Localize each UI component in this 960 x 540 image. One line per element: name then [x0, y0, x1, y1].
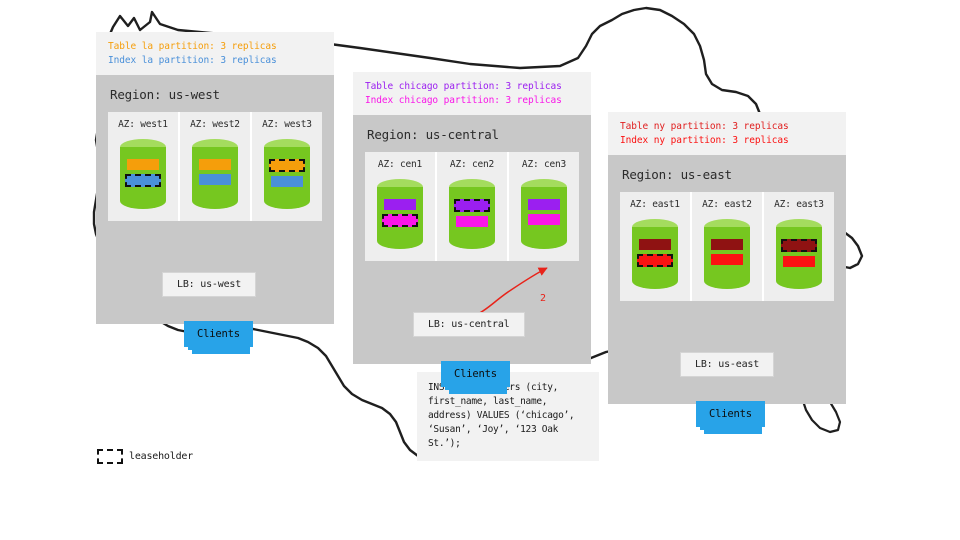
- leaseholder-swatch-icon: [97, 449, 123, 464]
- clients-button[interactable]: Clients: [441, 361, 510, 387]
- replica-bar-table: [384, 199, 416, 210]
- replica-bar-index: [456, 216, 488, 227]
- table-partition-line: Table ny partition: 3 replicas: [620, 121, 789, 132]
- clients-stack-us-west[interactable]: Clients: [184, 321, 253, 347]
- cylinder-bottom: [192, 193, 238, 209]
- az-cell-west3[interactable]: AZ: west3: [252, 112, 322, 221]
- replica-bar-table-leaseholder: [781, 239, 817, 252]
- replica-bars: [632, 239, 678, 271]
- replica-bar-table: [199, 159, 231, 170]
- az-row: AZ: west1 AZ: west2: [108, 112, 322, 221]
- az-label: AZ: cen1: [378, 159, 422, 170]
- partition-header-us-west: Table la partition: 3 replicas Index la …: [96, 32, 334, 75]
- region-title: Region: us-central: [353, 115, 591, 152]
- az-label: AZ: west2: [190, 119, 240, 130]
- clients-button[interactable]: Clients: [184, 321, 253, 347]
- node-cylinder[interactable]: [377, 179, 423, 249]
- index-partition-line: Index ny partition: 3 replicas: [620, 134, 836, 148]
- cylinder-bottom: [521, 233, 567, 249]
- az-cell-cen1[interactable]: AZ: cen1: [365, 152, 437, 261]
- replica-bar-index: [528, 214, 560, 225]
- az-label: AZ: west3: [262, 119, 312, 130]
- load-balancer-us-east[interactable]: LB: us-east: [680, 352, 774, 377]
- replica-bar-table-leaseholder: [454, 199, 490, 212]
- replica-bar-index: [783, 256, 815, 267]
- region-cluster-us-central: Table chicago partition: 3 replicas Inde…: [353, 72, 591, 364]
- region-panel-us-central: Region: us-central AZ: cen1 A: [353, 115, 591, 364]
- replica-bars: [377, 199, 423, 231]
- diagram-canvas: Table la partition: 3 replicas Index la …: [0, 0, 960, 540]
- region-panel-us-west: Region: us-west AZ: west1 AZ:: [96, 75, 334, 324]
- az-label: AZ: east2: [702, 199, 752, 210]
- replica-bar-index-leaseholder: [382, 214, 418, 227]
- az-label: AZ: cen2: [450, 159, 494, 170]
- node-cylinder[interactable]: [449, 179, 495, 249]
- az-cell-west1[interactable]: AZ: west1: [108, 112, 180, 221]
- replica-bar-table-leaseholder: [269, 159, 305, 172]
- cylinder-bottom: [704, 273, 750, 289]
- replica-bars: [449, 199, 495, 231]
- index-partition-line: Index la partition: 3 replicas: [108, 54, 324, 68]
- legend-label: leaseholder: [129, 451, 193, 462]
- partition-header-us-central: Table chicago partition: 3 replicas Inde…: [353, 72, 591, 115]
- arrow-step-label: 2: [540, 293, 546, 304]
- replica-bar-index: [199, 174, 231, 185]
- cylinder-bottom: [377, 233, 423, 249]
- cylinder-bottom: [120, 193, 166, 209]
- index-partition-line: Index chicago partition: 3 replicas: [365, 94, 581, 108]
- replica-bar-table: [127, 159, 159, 170]
- partition-header-us-east: Table ny partition: 3 replicas Index ny …: [608, 112, 846, 155]
- replica-bars: [264, 159, 310, 191]
- az-label: AZ: cen3: [522, 159, 566, 170]
- load-balancer-us-central[interactable]: LB: us-central: [413, 312, 525, 337]
- node-cylinder[interactable]: [521, 179, 567, 249]
- node-cylinder[interactable]: [192, 139, 238, 209]
- clients-stack-us-east[interactable]: Clients: [696, 401, 765, 427]
- replica-bar-table: [711, 239, 743, 250]
- cylinder-bottom: [264, 193, 310, 209]
- az-cell-east3[interactable]: AZ: east3: [764, 192, 834, 301]
- node-cylinder[interactable]: [632, 219, 678, 289]
- node-cylinder[interactable]: [776, 219, 822, 289]
- replica-bar-index-leaseholder: [125, 174, 161, 187]
- region-cluster-us-east: Table ny partition: 3 replicas Index ny …: [608, 112, 846, 404]
- table-partition-line: Table chicago partition: 3 replicas: [365, 81, 562, 92]
- az-row: AZ: east1 AZ: east2: [620, 192, 834, 301]
- cylinder-bottom: [449, 233, 495, 249]
- legend: leaseholder: [97, 449, 193, 464]
- az-label: AZ: east1: [630, 199, 680, 210]
- az-row: AZ: cen1 AZ: cen2: [365, 152, 579, 261]
- az-cell-cen3[interactable]: AZ: cen3: [509, 152, 579, 261]
- az-cell-cen2[interactable]: AZ: cen2: [437, 152, 509, 261]
- load-balancer-us-west[interactable]: LB: us-west: [162, 272, 256, 297]
- region-panel-us-east: Region: us-east AZ: east1 AZ:: [608, 155, 846, 404]
- replica-bar-index: [271, 176, 303, 187]
- replica-bar-table: [639, 239, 671, 250]
- replica-bar-index-leaseholder: [637, 254, 673, 267]
- az-cell-east1[interactable]: AZ: east1: [620, 192, 692, 301]
- az-label: AZ: west1: [118, 119, 168, 130]
- cylinder-bottom: [776, 273, 822, 289]
- replica-bars: [120, 159, 166, 191]
- replica-bars: [192, 159, 238, 189]
- region-title: Region: us-west: [96, 75, 334, 112]
- cylinder-bottom: [632, 273, 678, 289]
- region-cluster-us-west: Table la partition: 3 replicas Index la …: [96, 32, 334, 324]
- replica-bars: [776, 239, 822, 271]
- az-cell-west2[interactable]: AZ: west2: [180, 112, 252, 221]
- table-partition-line: Table la partition: 3 replicas: [108, 41, 277, 52]
- node-cylinder[interactable]: [264, 139, 310, 209]
- clients-stack-us-central[interactable]: Clients: [441, 361, 510, 387]
- region-title: Region: us-east: [608, 155, 846, 192]
- replica-bars: [521, 199, 567, 229]
- replica-bar-table: [528, 199, 560, 210]
- az-label: AZ: east3: [774, 199, 824, 210]
- replica-bars: [704, 239, 750, 269]
- clients-button[interactable]: Clients: [696, 401, 765, 427]
- node-cylinder[interactable]: [704, 219, 750, 289]
- replica-bar-index: [711, 254, 743, 265]
- node-cylinder[interactable]: [120, 139, 166, 209]
- az-cell-east2[interactable]: AZ: east2: [692, 192, 764, 301]
